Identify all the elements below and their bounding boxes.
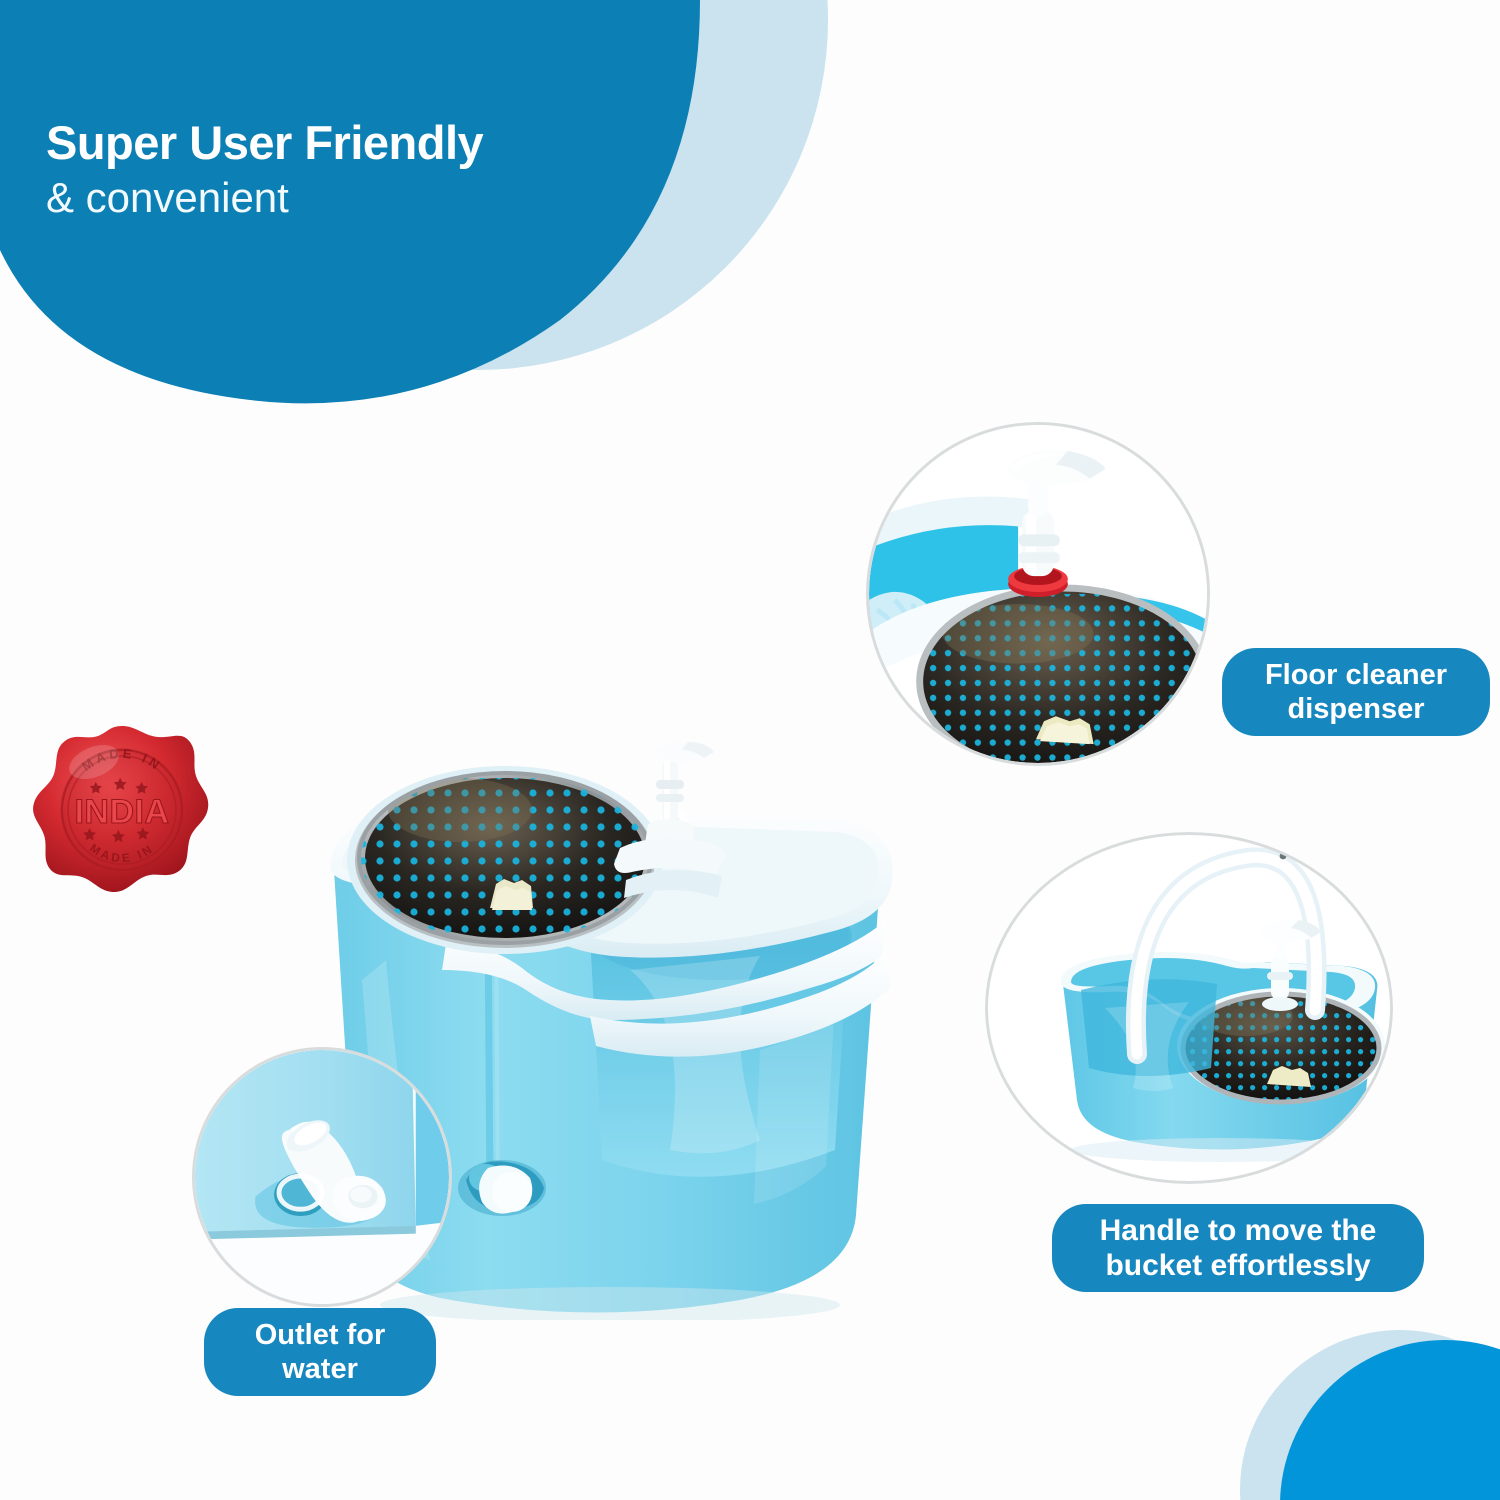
callout-handle-text: Handle to move the bucket effortlessly	[1100, 1213, 1377, 1284]
infographic-canvas: Super User Friendly & convenient	[0, 0, 1500, 1500]
drain-outlet-main	[458, 1160, 546, 1216]
callout-dispenser-line1: Floor cleaner	[1265, 659, 1447, 691]
callout-outlet-for-water[interactable]: Outlet for water	[204, 1308, 436, 1396]
callout-floor-cleaner-dispenser[interactable]: Floor cleaner dispenser	[1222, 648, 1490, 736]
callout-dispenser-text: Floor cleaner dispenser	[1265, 658, 1447, 726]
callout-outlet-line1: Outlet for	[255, 1319, 386, 1351]
seal-main-text: INDIA	[74, 793, 169, 831]
callout-dispenser-line2: dispenser	[1288, 693, 1425, 725]
header-title-block: Super User Friendly & convenient	[46, 118, 483, 224]
callout-outlet-line2: water	[282, 1353, 358, 1385]
page-subtitle: & convenient	[46, 173, 483, 223]
inset-pump-dispenser	[866, 422, 1210, 766]
callout-handle-line2: bucket effortlessly	[1105, 1249, 1370, 1282]
callout-handle-to-move[interactable]: Handle to move the bucket effortlessly	[1052, 1204, 1424, 1292]
page-title: Super User Friendly	[46, 118, 483, 167]
callout-outlet-text: Outlet for water	[255, 1318, 386, 1386]
inset-ring-handle	[985, 832, 1393, 1184]
callout-handle-line1: Handle to move the	[1100, 1214, 1377, 1247]
made-in-india-seal: MADE IN MADE IN INDIA	[32, 720, 212, 900]
inset-carry-handle	[985, 832, 1393, 1184]
inset-drain-outlet	[192, 1047, 452, 1307]
